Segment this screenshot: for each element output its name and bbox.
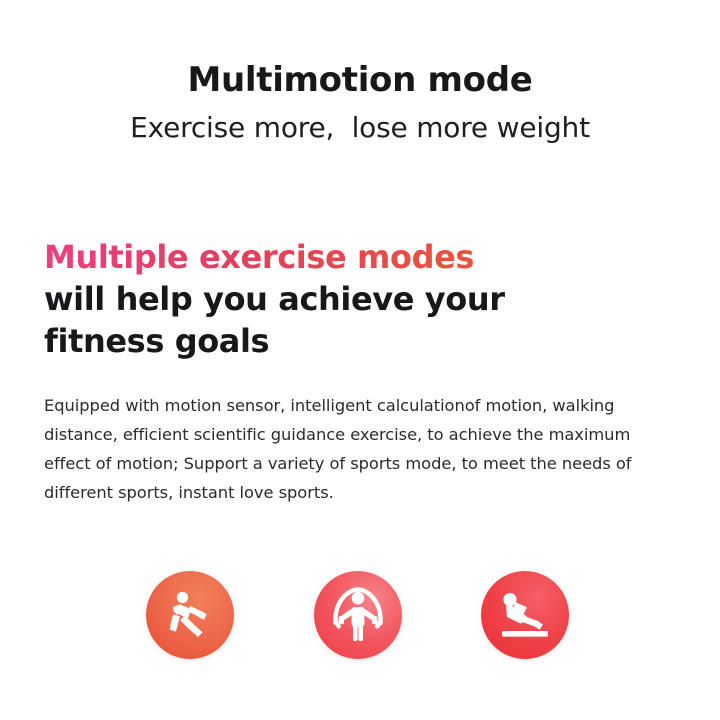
feature-description: Equipped with motion sensor, intelligent… xyxy=(44,391,672,507)
header: Multimotion mode Exercise more, lose mor… xyxy=(0,62,720,144)
mode-badge-running[interactable] xyxy=(146,571,234,659)
mat-bar xyxy=(502,631,548,637)
mode-badge-jump-rope[interactable] xyxy=(314,571,402,659)
promo-page: Multimotion mode Exercise more, lose mor… xyxy=(0,0,720,720)
feature-heading-accent-line: Multiple exercise modes xyxy=(44,236,474,278)
feature-heading-line-3: fitness goals xyxy=(44,320,678,362)
mode-circle-running xyxy=(146,571,234,659)
feature-heading: Multiple exercise modes will help you ac… xyxy=(44,236,678,363)
mode-badge-sit-up[interactable] xyxy=(481,571,569,659)
mode-icon-row xyxy=(0,571,720,667)
page-title: Multimotion mode xyxy=(0,62,720,99)
copy-block: Multiple exercise modes will help you ac… xyxy=(44,236,678,507)
page-subtitle: Exercise more, lose more weight xyxy=(0,113,720,144)
feature-heading-line-2: will help you achieve your xyxy=(44,278,678,320)
